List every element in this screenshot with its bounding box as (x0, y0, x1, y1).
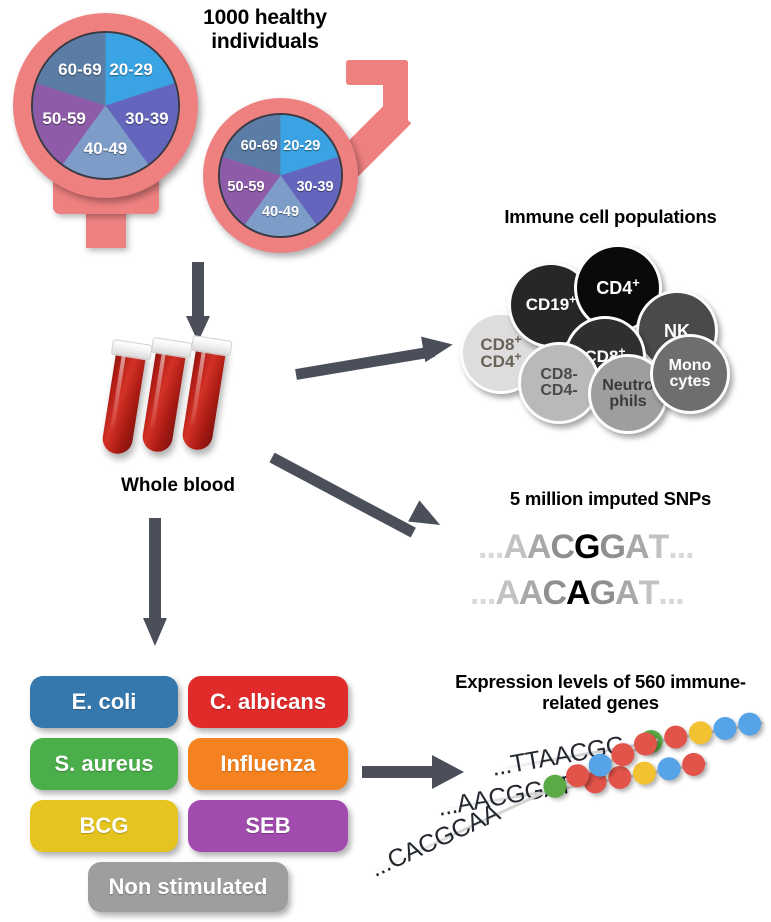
pie-label-50-59: 50-59 (42, 109, 85, 129)
male-symbol: 20-2930-3940-4950-5960-69 (198, 58, 413, 253)
immune-cell-label: CD8+CD4+ (480, 336, 521, 371)
stimulus-e-coli[interactable]: E. coli (30, 676, 178, 728)
expression-title: Expression levels of 560 immune-related … (430, 672, 771, 713)
female-symbol: 20-2930-3940-4950-5960-69 (8, 8, 208, 248)
strand-1: ...TTAACGG (489, 753, 495, 785)
expression-bead (712, 715, 739, 742)
immune-cell-label: Neutrophils (602, 378, 654, 411)
stimulus-influenza[interactable]: Influenza (188, 738, 348, 790)
whole-blood-label: Whole blood (88, 475, 268, 497)
snp-title: 5 million imputed SNPs (450, 489, 771, 510)
strand-3: ...CACGCAA (365, 856, 379, 885)
immune-cell-cd8-cd4-dn: CD8-CD4- (518, 342, 600, 424)
pie-label-30-39: 30-39 (125, 109, 168, 129)
pie-label-60-69: 60-69 (58, 60, 101, 80)
stimulus-c-albicans[interactable]: C. albicans (188, 676, 348, 728)
snp-allele-a: ...AACAGAT... (470, 574, 684, 613)
stimulus-non-stimulated[interactable]: Non stimulated (88, 862, 288, 912)
immune-cell-label: Monocytes (669, 358, 712, 391)
blood-tube (102, 340, 148, 447)
immune-title: Immune cell populations (450, 207, 771, 228)
snp-allele-g: ...AACGGAT... (478, 528, 694, 567)
expression-bead (662, 723, 689, 750)
expression-strands: ...TTAACGG...AACGGAT...CACGCAA (430, 745, 771, 922)
expression-bead (656, 755, 683, 782)
female-age-pie: 20-2930-3940-4950-5960-69 (31, 31, 180, 180)
male-age-pie: 20-2930-3940-4950-5960-69 (218, 113, 343, 238)
pie-label-20-29: 20-29 (109, 60, 152, 80)
pie-label-50-59: 50-59 (227, 179, 264, 195)
arrow-blood-to-snp (272, 448, 462, 548)
stimulus-s-aureus[interactable]: S. aureus (30, 738, 178, 790)
pie-label-60-69: 60-69 (241, 138, 278, 154)
stimulus-seb[interactable]: SEB (188, 800, 348, 852)
immune-cell-monocytes: Monocytes (650, 334, 730, 414)
pie-label-40-49: 40-49 (84, 139, 127, 159)
arrow-blood-to-stimuli (143, 518, 167, 648)
snp-ellipsis-right: ... (668, 528, 693, 567)
immune-cell-cluster: CD8+CD4+CD19+CD4+NKCD8+CD8-CD4-Neutrophi… (460, 240, 771, 420)
snp-sequences: ...AACGGAT......AACAGAT... (470, 528, 760, 618)
immune-cell-label: CD8-CD4- (540, 367, 577, 400)
expression-bead (687, 719, 714, 746)
strand-2: ...AACGGAT (435, 793, 441, 825)
snp-ellipsis-left: ... (470, 574, 495, 613)
stimuli-panel: E. coliC. albicansS. aureusInfluenzaBCGS… (30, 676, 350, 891)
immune-cell-label: CD4+ (596, 279, 640, 297)
blood-tubes (110, 338, 250, 468)
male-arrow-head-vertical (383, 60, 408, 122)
snp-ellipsis-left: ... (478, 528, 503, 567)
snp-ellipsis-right: ... (658, 574, 683, 613)
stimulus-bcg[interactable]: BCG (30, 800, 178, 852)
snp-variant-base: G (574, 528, 599, 567)
expression-bead (631, 759, 658, 786)
immune-cell-label: CD19+ (526, 296, 577, 313)
arrow-cohort-to-blood (186, 262, 210, 344)
expression-bead (680, 751, 707, 778)
expression-bead (736, 710, 763, 737)
strand-sequence: ...CACGCAA (366, 798, 505, 883)
snp-variant-base: A (566, 574, 590, 613)
pie-label-30-39: 30-39 (296, 179, 333, 195)
pie-label-20-29: 20-29 (283, 138, 320, 154)
arrow-blood-to-immune (296, 330, 461, 380)
pie-label-40-49: 40-49 (262, 204, 299, 220)
